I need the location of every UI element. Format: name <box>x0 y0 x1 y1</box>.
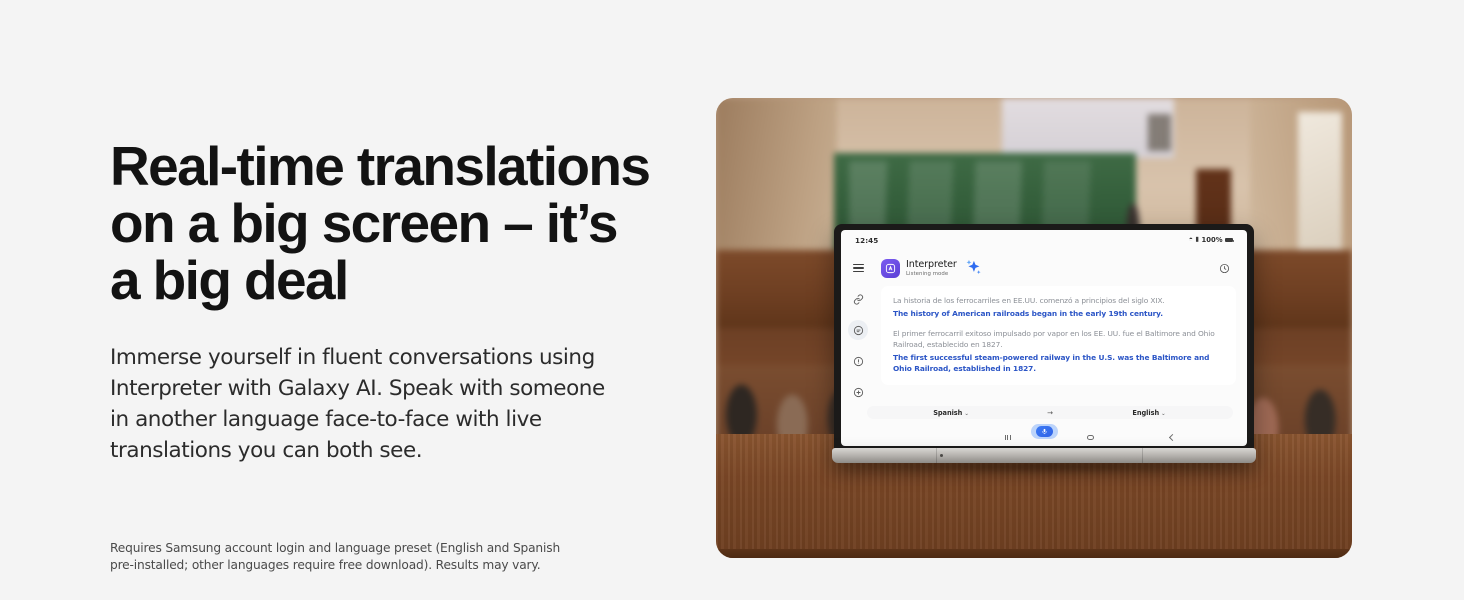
recents-icon[interactable] <box>1005 435 1011 440</box>
legal-disclaimer: Requires Samsung account login and langu… <box>110 540 580 574</box>
interpreter-app-icon <box>881 259 900 278</box>
battery-full-icon <box>1225 238 1233 243</box>
transcript-entry: La historia de los ferrocarriles en EE.U… <box>893 295 1224 319</box>
promo-banner: Real-time translations on a big screen –… <box>0 0 1464 600</box>
source-language-label: Spanish <box>933 409 962 417</box>
transcript-translated-text: The history of American railroads began … <box>893 308 1224 319</box>
hamburger-menu-icon[interactable] <box>848 258 868 278</box>
transcript-card: La historia de los ferrocarriles en EE.U… <box>881 286 1236 385</box>
galaxy-ai-sparkle-icon <box>962 257 984 279</box>
android-nav-bar <box>881 431 1247 444</box>
source-language-selector[interactable]: Spanish⌄ <box>867 409 1035 417</box>
home-icon[interactable] <box>1087 435 1094 439</box>
desk-front-edge <box>716 549 1352 558</box>
transcript-entry: El primer ferrocarril exitoso impulsado … <box>893 328 1224 374</box>
device-body: 12:45 ◓ ▮ 100% <box>834 224 1254 452</box>
chevron-down-icon: ⌄ <box>964 411 968 417</box>
wall-vent <box>1148 114 1171 151</box>
status-time: 12:45 <box>855 236 878 245</box>
page-title: Real-time translations on a big screen –… <box>110 138 670 309</box>
app-subtitle: Listening mode <box>906 270 957 278</box>
app-header: Interpreter Listening mode <box>881 254 1233 282</box>
signal-bars-icon: ▮ <box>1195 237 1199 244</box>
hinge-seam-left <box>936 448 937 463</box>
battery-percent: 100% <box>1202 236 1223 244</box>
info-circle-icon[interactable] <box>848 351 868 371</box>
copy-column: Real-time translations on a big screen –… <box>110 0 670 600</box>
status-indicators: ◓ ▮ 100% <box>1189 236 1233 244</box>
language-direction-arrow: → <box>1035 409 1065 417</box>
link-attachment-icon[interactable] <box>848 289 868 309</box>
chevron-down-icon: ⌄ <box>1161 411 1165 417</box>
device-hinge-base <box>832 448 1256 463</box>
target-language-selector[interactable]: English⌄ <box>1065 409 1233 417</box>
status-bar: 12:45 ◓ ▮ 100% <box>841 230 1247 250</box>
device-screen: 12:45 ◓ ▮ 100% <box>841 230 1247 446</box>
product-photo: 12:45 ◓ ▮ 100% <box>716 98 1352 558</box>
wifi-icon: ◓ <box>1189 237 1193 244</box>
transcript-source-text: El primer ferrocarril exitoso impulsado … <box>893 328 1224 350</box>
body-copy: Immerse yourself in fluent conversations… <box>110 342 610 466</box>
chat-bubble-icon[interactable] <box>848 320 868 340</box>
transcript-source-text: La historia de los ferrocarriles en EE.U… <box>893 295 1224 306</box>
history-clock-icon[interactable] <box>1219 261 1233 275</box>
foldable-phone: 12:45 ◓ ▮ 100% <box>834 224 1254 474</box>
app-title: Interpreter <box>906 259 957 270</box>
add-circle-icon[interactable] <box>848 382 868 402</box>
language-selector-bar: Spanish⌄ → English⌄ <box>867 406 1233 419</box>
transcript-translated-text: The first successful steam-powered railw… <box>893 352 1224 374</box>
target-language-label: English <box>1132 409 1159 417</box>
base-camera-dot <box>940 454 943 457</box>
app-title-group: Interpreter Listening mode <box>906 259 957 278</box>
back-icon[interactable] <box>1169 434 1176 441</box>
hinge-seam-right <box>1142 448 1143 463</box>
